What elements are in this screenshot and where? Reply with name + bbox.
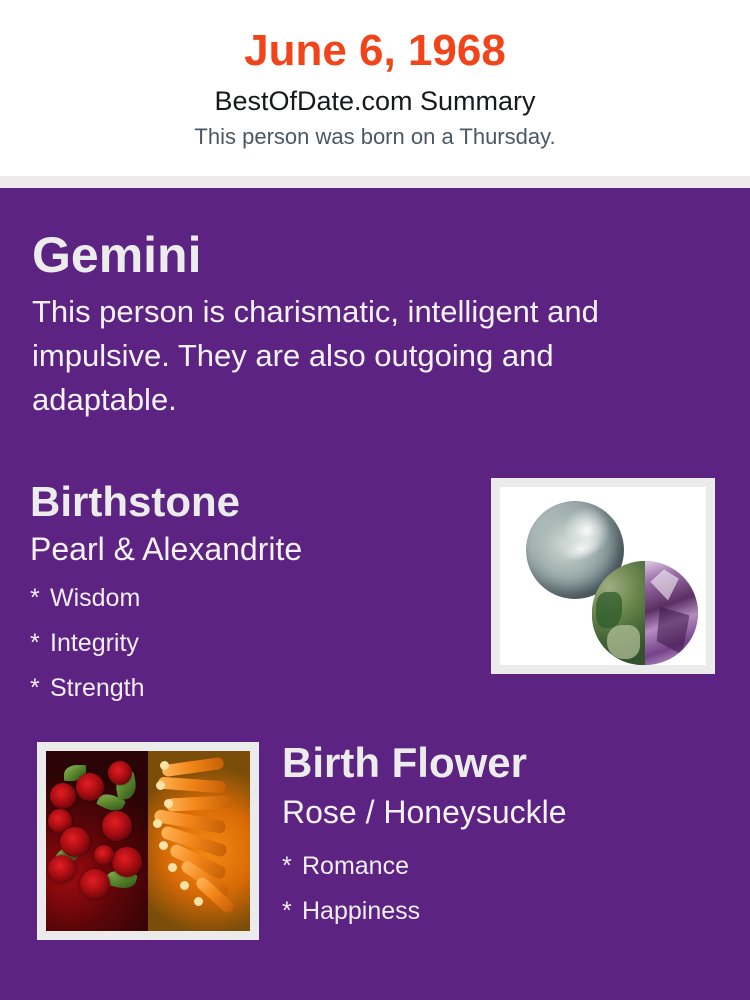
bullet-star-icon: *	[282, 844, 302, 889]
list-item: *Integrity	[30, 621, 480, 666]
list-item: *Strength	[30, 666, 480, 711]
bullet-star-icon: *	[282, 889, 302, 934]
birthstone-trait-label: Strength	[50, 674, 145, 702]
card-header: June 6, 1968 BestOfDate.com Summary This…	[0, 0, 750, 176]
site-summary-label: BestOfDate.com Summary	[0, 82, 750, 120]
details-panel: Gemini This person is charismatic, intel…	[0, 188, 750, 1000]
birth-flower-trait-label: Happiness	[302, 897, 420, 925]
birthstone-photo	[500, 487, 706, 665]
bullet-star-icon: *	[30, 621, 50, 666]
zodiac-sign-name: Gemini	[32, 224, 712, 286]
list-item: *Wisdom	[30, 576, 480, 621]
birth-flower-section: Birth Flower Rose / Honeysuckle *Romance…	[282, 736, 732, 934]
honeysuckle-image-half	[148, 751, 250, 931]
birthstone-trait-list: *Wisdom *Integrity *Strength	[30, 576, 480, 711]
birthstone-heading: Birthstone	[30, 476, 480, 528]
alexandrite-faceted-half	[645, 561, 698, 665]
birth-flower-trait-label: Romance	[302, 852, 409, 880]
birth-flower-names: Rose / Honeysuckle	[282, 790, 732, 834]
roses-image-half	[46, 751, 148, 931]
page-title: June 6, 1968	[0, 22, 750, 80]
birthstone-trait-label: Wisdom	[50, 584, 140, 612]
bullet-star-icon: *	[30, 576, 50, 621]
birth-flower-heading: Birth Flower	[282, 736, 732, 790]
birthstone-section: Birthstone Pearl & Alexandrite *Wisdom *…	[30, 476, 480, 711]
alexandrite-gem-icon	[592, 561, 698, 665]
zodiac-description: This person is charismatic, intelligent …	[32, 290, 692, 422]
bullet-star-icon: *	[30, 666, 50, 711]
birthstone-photo-frame	[491, 478, 715, 674]
birth-day-of-week-text: This person was born on a Thursday.	[0, 121, 750, 153]
list-item: *Happiness	[282, 889, 732, 934]
birthstone-names: Pearl & Alexandrite	[30, 528, 480, 570]
birth-flower-photo-frame	[37, 742, 259, 940]
zodiac-section: Gemini This person is charismatic, intel…	[32, 224, 712, 422]
birthstone-trait-label: Integrity	[50, 629, 139, 657]
summary-card: June 6, 1968 BestOfDate.com Summary This…	[0, 0, 750, 1000]
birth-flower-photo	[46, 751, 250, 931]
list-item: *Romance	[282, 844, 732, 889]
birth-flower-trait-list: *Romance *Happiness	[282, 844, 732, 934]
header-divider	[0, 176, 750, 188]
alexandrite-rough-half	[592, 561, 647, 665]
